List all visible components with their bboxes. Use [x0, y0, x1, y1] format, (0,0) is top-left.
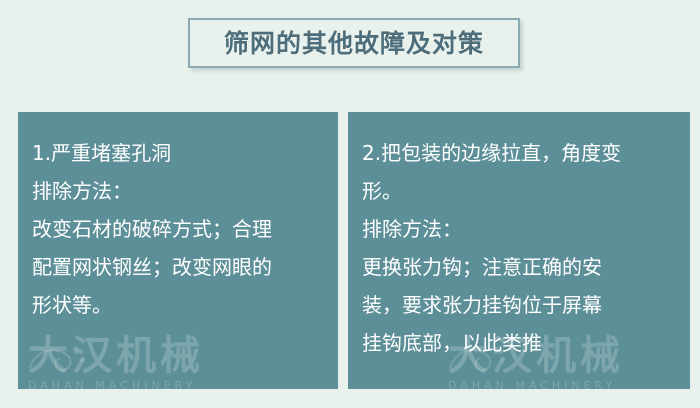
content-panel-right: 大汉机械 DAHAN MACHINERY 2.把包装的边缘拉直，角度变 形。 排… — [348, 112, 690, 389]
panel-right-line-4: 更换张力钩；注意正确的安 — [362, 248, 678, 286]
panel-left-line-4: 配置网状钢丝；改变网眼的 — [32, 248, 326, 286]
panel-left-line-1: 1.严重堵塞孔洞 — [32, 134, 326, 172]
content-panel-left: 大汉机械 DAHAN MACHINERY 1.严重堵塞孔洞 排除方法： 改变石材… — [18, 112, 338, 389]
title-banner: 筛网的其他故障及对策 — [188, 18, 520, 68]
panel-left-line-5: 形状等。 — [32, 286, 326, 324]
panel-right-text: 2.把包装的边缘拉直，角度变 形。 排除方法： 更换张力钩；注意正确的安 装，要… — [348, 112, 690, 389]
slide-canvas: 筛网的其他故障及对策 大汉机械 DAHAN MACHINERY 1.严重堵塞孔洞… — [0, 0, 700, 408]
panel-right-line-6: 挂钩底部，以此类推 — [362, 324, 678, 362]
panel-right-line-2: 形。 — [362, 172, 678, 210]
panel-right-line-3: 排除方法： — [362, 210, 678, 248]
panel-right-line-5: 装，要求张力挂钩位于屏幕 — [362, 286, 678, 324]
panel-right-line-1: 2.把包装的边缘拉直，角度变 — [362, 134, 678, 172]
page-title: 筛网的其他故障及对策 — [224, 31, 484, 56]
panel-left-line-2: 排除方法： — [32, 172, 326, 210]
panel-left-text: 1.严重堵塞孔洞 排除方法： 改变石材的破碎方式；合理 配置网状钢丝；改变网眼的… — [18, 112, 338, 389]
panel-left-line-3: 改变石材的破碎方式；合理 — [32, 210, 326, 248]
